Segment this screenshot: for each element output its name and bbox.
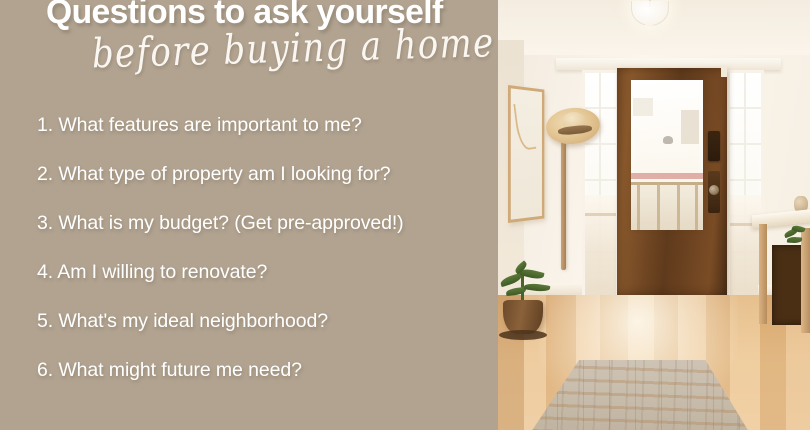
exterior-shrub xyxy=(663,136,673,144)
window-view-rail xyxy=(585,213,616,216)
exterior-porch-railing xyxy=(631,182,703,230)
sidelight-window-left xyxy=(582,70,619,301)
exterior-building xyxy=(633,98,653,116)
window-mullion xyxy=(585,107,616,109)
front-door[interactable] xyxy=(617,68,727,295)
console-table-leg xyxy=(759,224,767,324)
porch-post xyxy=(657,182,660,230)
window-mullion xyxy=(585,143,616,145)
small-plant-right xyxy=(784,226,806,246)
text-panel: Questions to ask yourself before buying … xyxy=(0,0,498,430)
framed-wall-art xyxy=(508,85,544,223)
infographic-canvas: Questions to ask yourself before buying … xyxy=(0,0,810,430)
door-glass-panel xyxy=(631,80,703,230)
porch-post xyxy=(637,182,640,230)
window-view xyxy=(585,195,616,299)
plant-leaf xyxy=(787,236,802,243)
door-keypad-lock-icon[interactable] xyxy=(708,131,720,161)
list-item: 6. What might future me need? xyxy=(37,361,487,381)
exterior-building xyxy=(681,110,699,144)
home-entryway-photo xyxy=(498,0,810,430)
door-knob-icon[interactable] xyxy=(709,185,719,195)
list-item: 4. Am I willing to renovate? xyxy=(37,263,487,283)
window-mullion xyxy=(730,143,761,145)
door-latch-icon xyxy=(721,67,727,77)
list-item: 3. What is my budget? (Get pre-approved!… xyxy=(37,214,487,234)
art-line-drawing xyxy=(513,103,536,151)
list-item: 1. What features are important to me? xyxy=(37,116,487,136)
coat-rack-pole xyxy=(561,140,566,270)
porch-post xyxy=(695,182,698,230)
window-view xyxy=(730,195,761,299)
window-mullion xyxy=(730,107,761,109)
exterior-red-accent xyxy=(631,173,703,179)
pendant-light-tip xyxy=(645,24,653,31)
plant-pot-saucer xyxy=(499,330,547,340)
questions-list: 1. What features are important to me? 2.… xyxy=(37,116,487,410)
page-subtitle: before buying a home xyxy=(91,20,495,77)
list-item: 2. What type of property am I looking fo… xyxy=(37,165,487,185)
window-mullion xyxy=(585,179,616,181)
porch-post xyxy=(677,182,680,230)
list-item: 5. What's my ideal neighborhood? xyxy=(37,312,487,332)
window-mullion xyxy=(730,179,761,181)
porch-rail-top xyxy=(631,182,703,185)
plant-pot xyxy=(503,300,543,334)
